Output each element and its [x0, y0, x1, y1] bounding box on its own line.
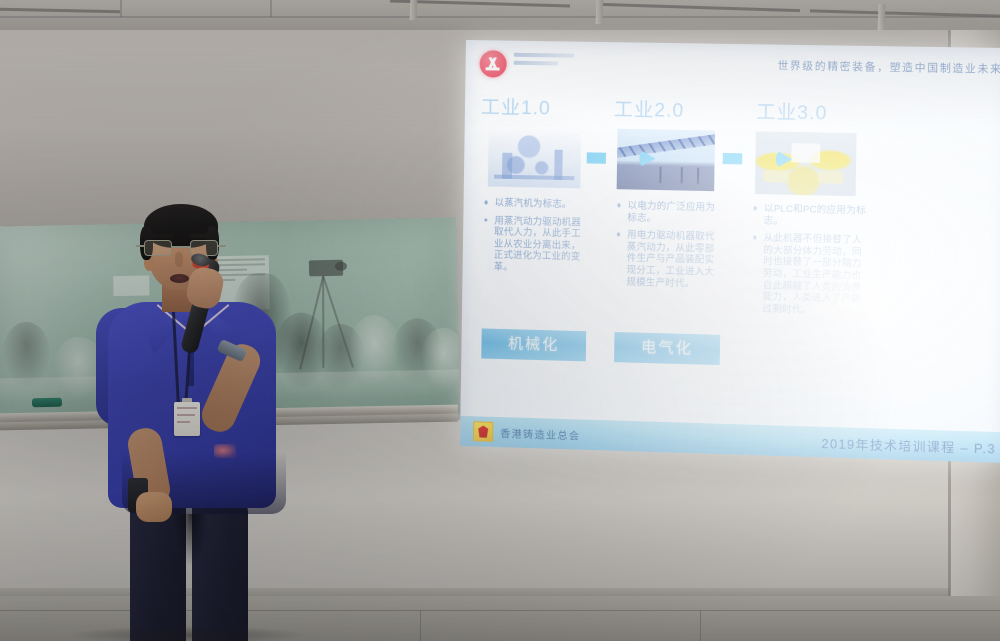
arrow-2-to-3-icon: [723, 149, 754, 169]
bullets-column-2: 以电力的广泛应用为标志。 用电力驱动机器取代蒸汽动力，从此零部件生产与产品装配实…: [615, 199, 722, 295]
slide-tagline: 世界级的精密装备，塑造中国制造业未来: [777, 58, 1000, 77]
arrow-1-to-2-icon: [587, 148, 618, 168]
hong-kong-foundry-association-logo-icon: [473, 421, 493, 442]
tag-mechanization: 机械化: [481, 328, 586, 361]
presenter: [96, 196, 286, 641]
column-title-1: 工业1.0: [481, 92, 551, 120]
list-item: 从此机器不但接替了人的大部分体力劳动，同时也接替了一部分脑力劳动，工业生产能力也…: [751, 232, 867, 317]
list-item: 用蒸汽动力驱动机器取代人力，从此手工业从农业分离出来，正式进化为工业的变革。: [483, 214, 588, 275]
footer-organization: 香港铸造业总会: [500, 425, 580, 443]
list-item: 以电力的广泛应用为标志。: [616, 199, 722, 225]
photo-scene: 世界级的精密装备，塑造中国制造业未来 工业1.0 工业2.0 工业3.0: [0, 0, 1000, 641]
column-title-2: 工业2.0: [614, 95, 685, 123]
bullets-column-1: 以蒸汽机为标志。 用蒸汽动力驱动机器取代人力，从此手工业从农业分离出来，正式进化…: [482, 196, 588, 280]
robotic-assembly-line-image: [755, 131, 857, 196]
company-round-logo-icon: [479, 50, 506, 77]
eyeglasses: [144, 240, 218, 257]
power-transmission-line-image: [617, 129, 715, 191]
mouth: [170, 274, 189, 283]
hand-left: [136, 492, 172, 522]
trouser-shadow: [174, 514, 208, 566]
whiteboard-eraser[interactable]: [32, 398, 62, 408]
steam-engine-illustration-image: [488, 128, 581, 188]
footer-course-and-page: 2019年技术培训课程 – P.3: [821, 433, 996, 458]
slide: 世界级的精密装备，塑造中国制造业未来 工业1.0 工业2.0 工业3.0: [460, 40, 1000, 463]
presenter-ground-shadow: [70, 626, 306, 641]
projection-screen: 世界级的精密装备，塑造中国制造业未来 工业1.0 工业2.0 工业3.0: [460, 40, 1000, 463]
list-item: 以PLC和PC的应用为标志。: [752, 202, 867, 228]
list-item: 以蒸汽机为标志。: [484, 196, 589, 210]
slide-header: 世界级的精密装备，塑造中国制造业未来: [465, 40, 1000, 97]
bullets-column-3: 以PLC和PC的应用为标志。 从此机器不但接替了人的大部分体力劳动，同时也接替了…: [751, 202, 868, 323]
list-item: 用电力驱动机器取代蒸汽动力，从此零部件生产与产品装配实现分工，工业进入大规模生产…: [615, 229, 722, 290]
tag-electrification: 电气化: [614, 332, 720, 365]
company-wordmark: [514, 53, 575, 70]
column-title-3: 工业3.0: [756, 97, 828, 126]
ceiling: [0, 0, 1000, 34]
name-badge: [174, 402, 200, 436]
